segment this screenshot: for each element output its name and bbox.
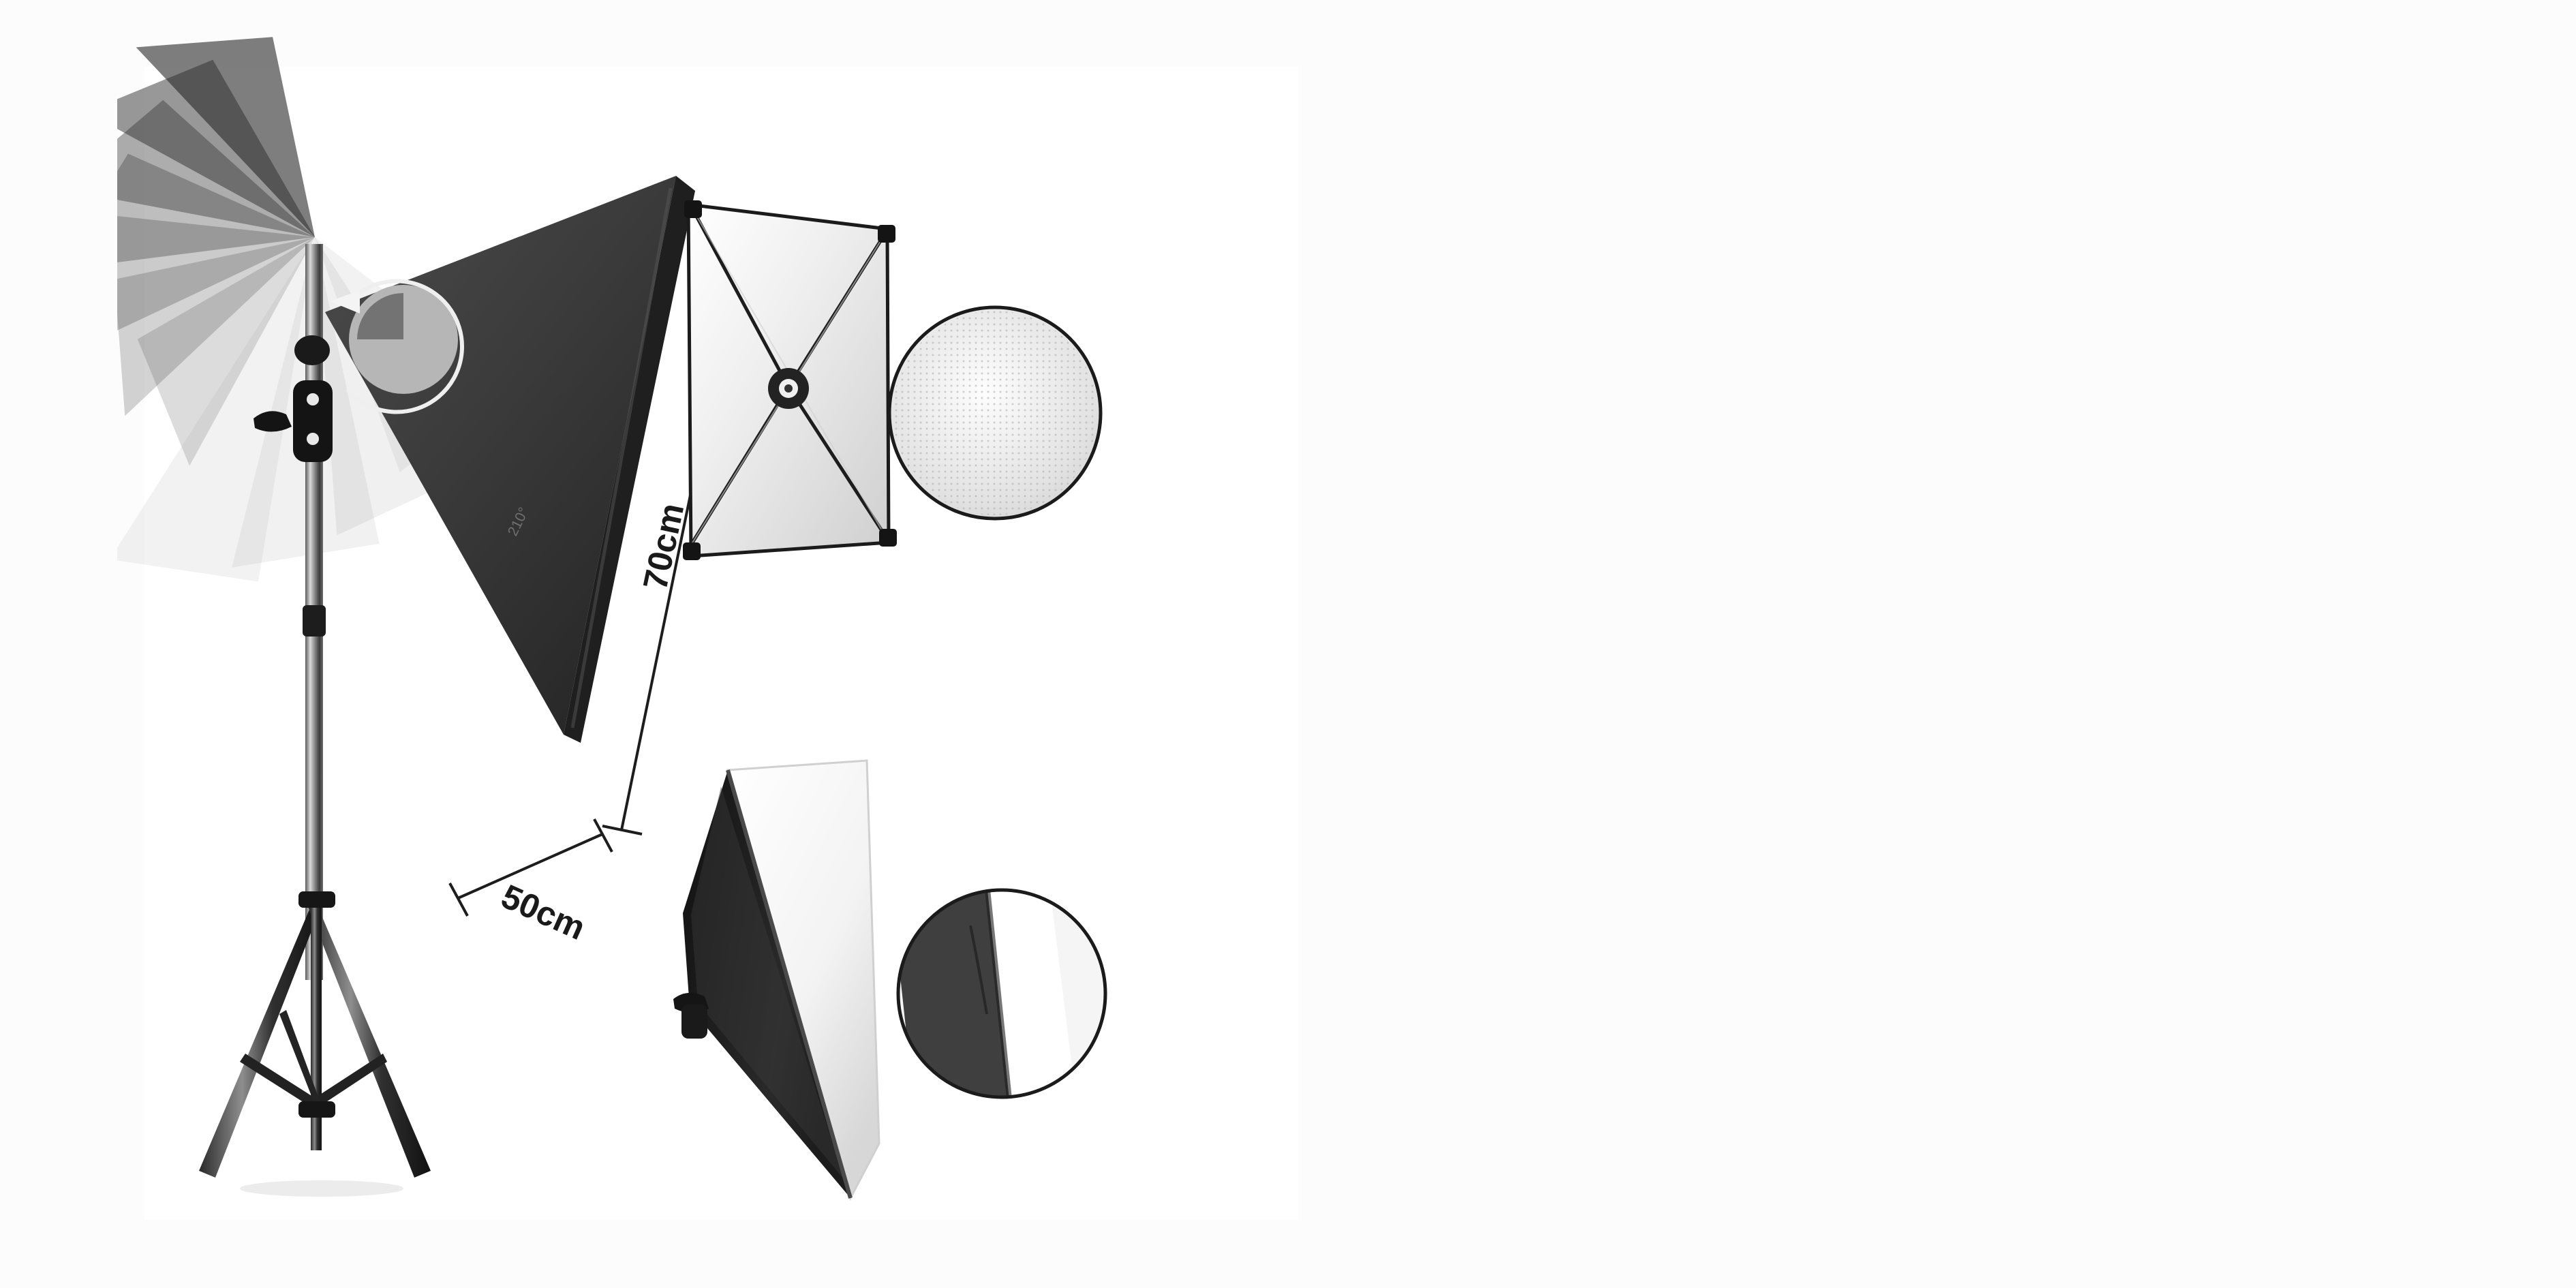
softbox-front-view-illustration [649, 169, 1139, 578]
product-image-panel: 210° 70cm 50cm [144, 67, 1298, 1220]
seam-detail-zoom [887, 841, 1105, 1171]
dimension-label-width: 50cm [496, 877, 592, 947]
promo-panel: pdx ® BÜYÜK KASIM İNDİRİMİ 30% [1298, 0, 2576, 1288]
tripod-legs [199, 891, 431, 1197]
softbox-angled-view-illustration [662, 721, 1167, 1212]
